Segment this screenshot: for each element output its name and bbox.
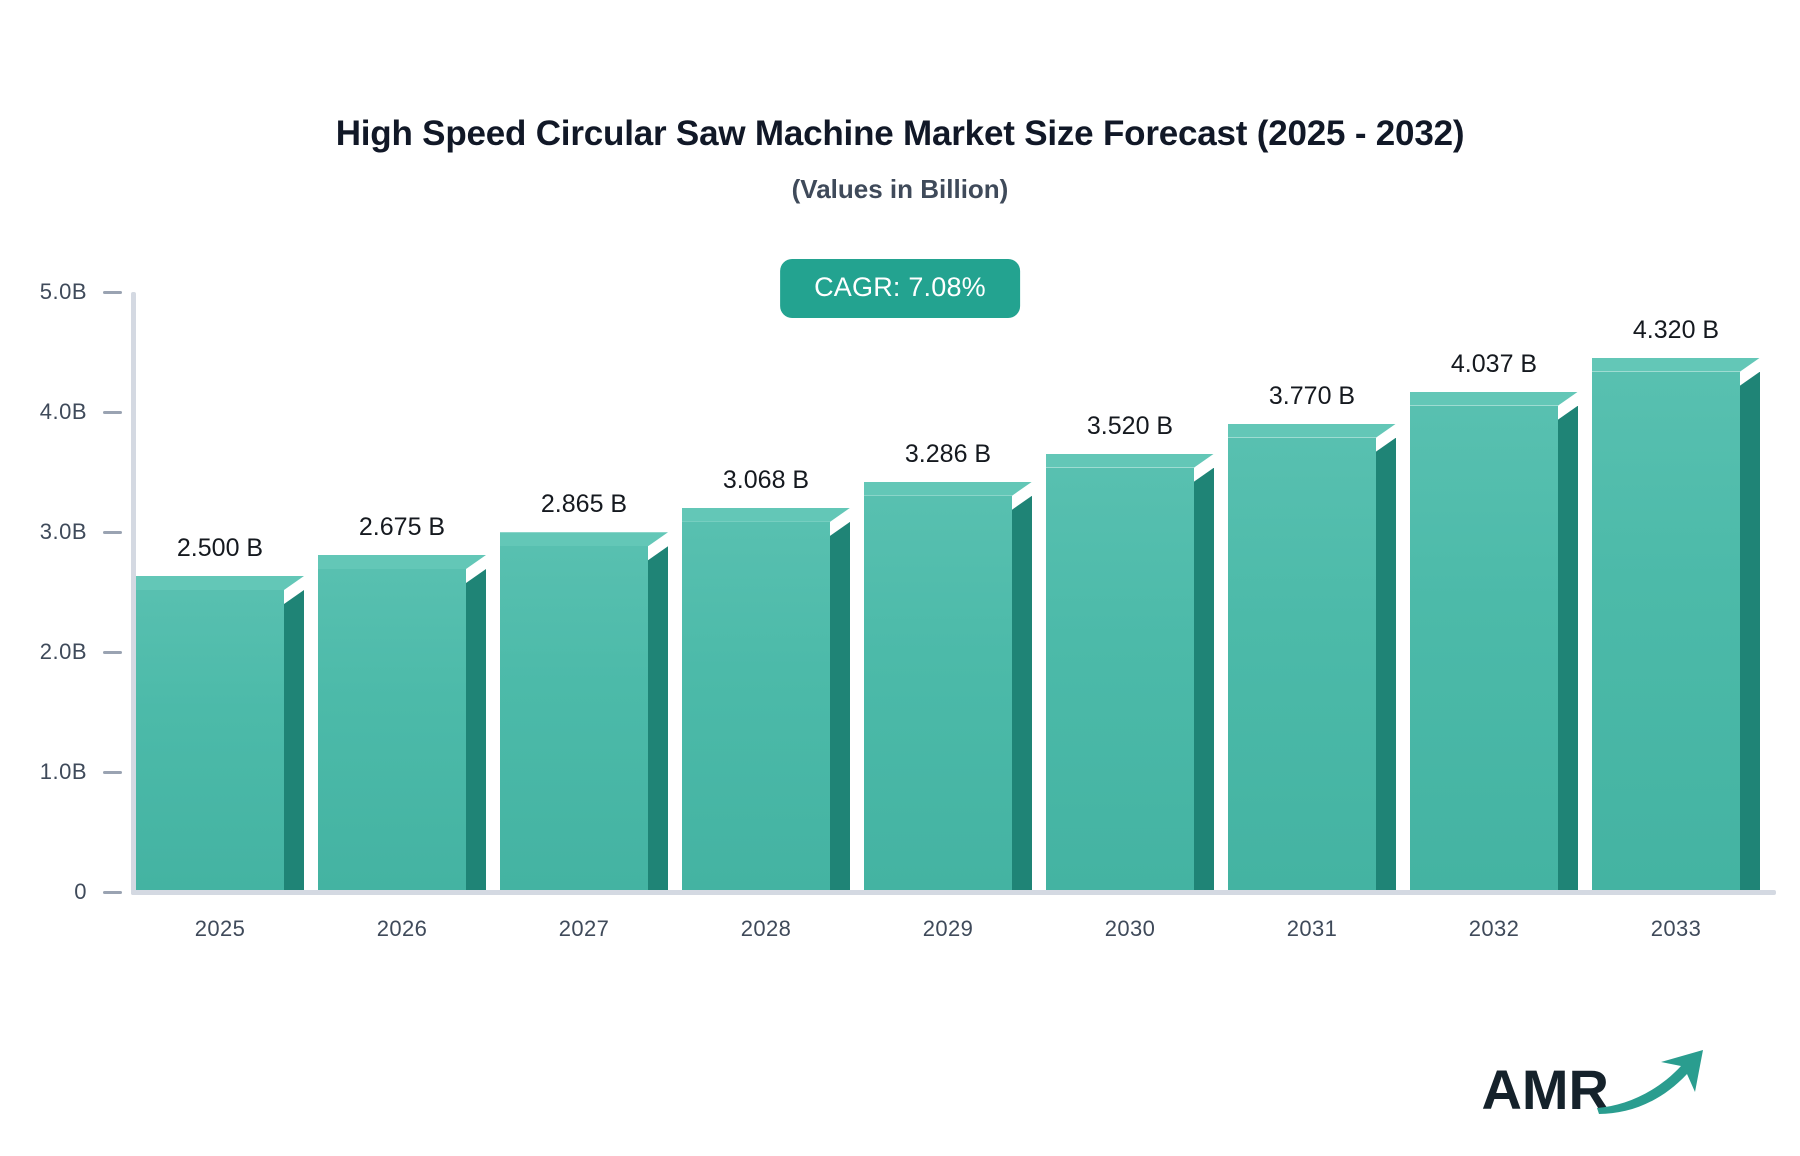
bar-side-face: [1740, 372, 1760, 890]
bar-value-label: 4.320 B: [1592, 316, 1760, 345]
bar-side-face: [648, 546, 668, 890]
bar-value-label: 3.068 B: [682, 466, 850, 495]
bar-top-face: [318, 555, 486, 569]
bar-value-label: 3.286 B: [864, 440, 1032, 469]
bar[interactable]: [1046, 468, 1226, 890]
y-axis-tick-mark: [103, 651, 122, 654]
bar[interactable]: [682, 522, 862, 890]
x-axis-tick-label: 2030: [1046, 916, 1214, 942]
y-axis-tick-mark: [103, 891, 122, 894]
bar-top-face: [864, 482, 1032, 496]
bar-group[interactable]: 2.865 B: [500, 290, 680, 890]
bar-top-face: [1592, 358, 1760, 372]
page-title: High Speed Circular Saw Machine Market S…: [0, 114, 1800, 154]
bar-front-face: [318, 569, 466, 890]
bar[interactable]: [136, 590, 316, 890]
bar-value-label: 3.520 B: [1046, 412, 1214, 441]
bar-side-face: [284, 590, 304, 890]
x-axis-tick-label: 2032: [1410, 916, 1578, 942]
bar-group[interactable]: 4.320 B: [1592, 290, 1772, 890]
chart-subtitle: (Values in Billion): [0, 174, 1800, 205]
bar[interactable]: [1410, 406, 1590, 890]
growth-arrow-icon: [1595, 1048, 1707, 1114]
chart-page: High Speed Circular Saw Machine Market S…: [0, 0, 1800, 1156]
bar-value-label: 2.865 B: [500, 490, 668, 519]
bar-series: 2.500 B2.675 B2.865 B3.068 B3.286 B3.520…: [136, 292, 1776, 890]
x-axis-tick-label: 2025: [136, 916, 304, 942]
bar-front-face: [136, 590, 284, 890]
bar-side-face: [1376, 438, 1396, 890]
bar-side-face: [1558, 406, 1578, 890]
amr-logo: AMR: [1481, 1048, 1707, 1118]
y-axis-tick-label: 0: [74, 879, 87, 905]
bar-top-face: [1410, 392, 1578, 406]
y-axis-tick-label: 4.0B: [40, 399, 87, 425]
bar-front-face: [1228, 438, 1376, 890]
y-axis-tick-label: 3.0B: [40, 519, 87, 545]
x-axis-tick-label: 2031: [1228, 916, 1396, 942]
bar-side-face: [830, 522, 850, 890]
bar-value-label: 2.500 B: [136, 534, 304, 563]
bar-side-face: [1194, 468, 1214, 890]
bar-value-label: 4.037 B: [1410, 350, 1578, 379]
x-axis-tick-label: 2027: [500, 916, 668, 942]
y-axis-tick-mark: [103, 291, 122, 294]
bar-top-face: [682, 508, 850, 522]
y-axis-tick-mark: [103, 771, 122, 774]
x-axis-tick-label: 2033: [1592, 916, 1760, 942]
bar-top-face: [1228, 424, 1396, 438]
bar-front-face: [1046, 468, 1194, 890]
bar-top-face: [1046, 454, 1214, 468]
bar-value-label: 3.770 B: [1228, 382, 1396, 411]
bar-side-face: [466, 569, 486, 890]
x-axis-line: [131, 890, 1776, 895]
bar[interactable]: [1228, 438, 1408, 890]
bar-group[interactable]: 3.770 B: [1228, 290, 1408, 890]
x-axis-tick-label: 2026: [318, 916, 486, 942]
y-axis-tick-mark: [103, 411, 122, 414]
x-axis-tick-label: 2028: [682, 916, 850, 942]
bar-front-face: [1592, 372, 1740, 890]
y-axis-tick-mark: [103, 531, 122, 534]
bar-group[interactable]: 4.037 B: [1410, 290, 1590, 890]
bar[interactable]: [1592, 372, 1772, 890]
bar-group[interactable]: 2.675 B: [318, 290, 498, 890]
y-axis-tick-label: 5.0B: [40, 279, 87, 305]
bar-group[interactable]: 3.068 B: [682, 290, 862, 890]
bar-front-face: [864, 496, 1012, 890]
bar-side-face: [1012, 496, 1032, 890]
bar-group[interactable]: 3.286 B: [864, 290, 1044, 890]
bar-value-label: 2.675 B: [318, 513, 486, 542]
bar-top-face: [136, 576, 304, 590]
bar[interactable]: [864, 496, 1044, 890]
bar-group[interactable]: 3.520 B: [1046, 290, 1226, 890]
bar[interactable]: [318, 569, 498, 890]
x-axis-tick-label: 2029: [864, 916, 1032, 942]
bar-group[interactable]: 2.500 B: [136, 290, 316, 890]
y-axis-tick-label: 2.0B: [40, 639, 87, 665]
bar-top-face: [500, 532, 668, 546]
bar[interactable]: [500, 546, 680, 890]
bar-front-face: [682, 522, 830, 890]
bar-front-face: [1410, 406, 1558, 890]
amr-logo-text: AMR: [1481, 1062, 1609, 1118]
y-axis-tick-label: 1.0B: [40, 759, 87, 785]
bar-front-face: [500, 546, 648, 890]
